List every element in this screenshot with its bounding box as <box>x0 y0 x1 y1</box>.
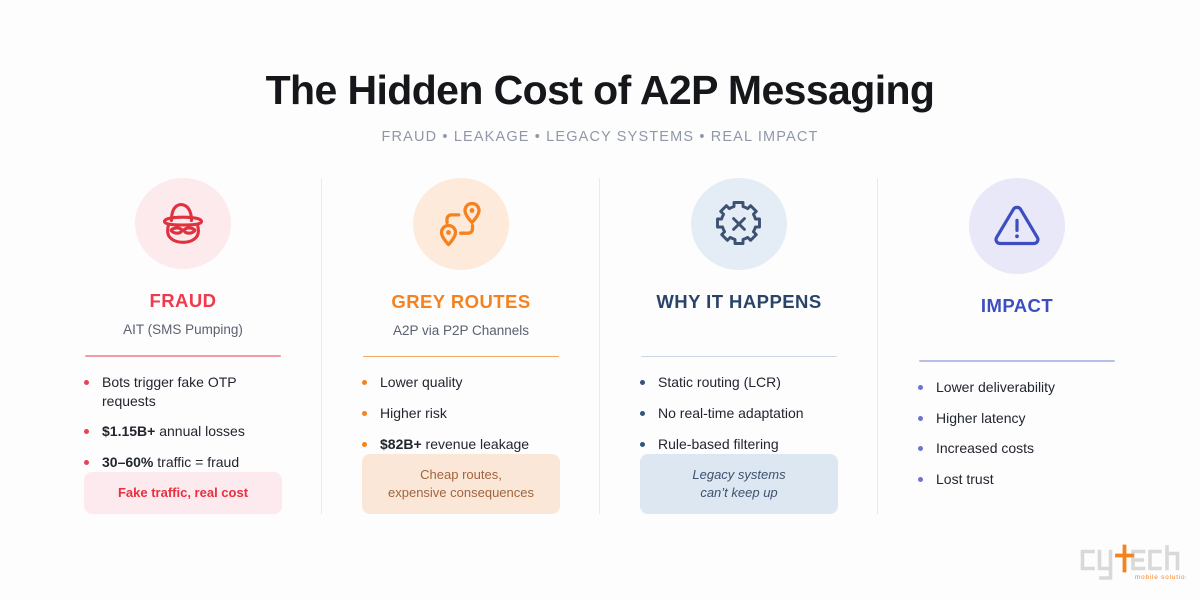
list-item-emphasis: $1.15B+ <box>102 423 155 439</box>
page-subtitle: FRAUD • LEAKAGE • LEGACY SYSTEMS • REAL … <box>0 129 1200 145</box>
list-item-text: Rule-based filtering <box>658 436 779 452</box>
warning-triangle-icon <box>969 178 1065 274</box>
bullet-dot <box>640 380 645 385</box>
column-grey-routes: GREY ROUTES A2P via P2P Channels Lower q… <box>322 178 600 514</box>
column-subheading: AIT (SMS Pumping) <box>123 322 243 339</box>
column-heading: GREY ROUTES <box>391 292 530 312</box>
bullet-dot <box>362 442 367 447</box>
bullet-list: Lower deliverability Higher latency Incr… <box>917 378 1117 489</box>
bullet-dot <box>84 380 89 385</box>
list-item-text: Lower quality <box>380 374 463 390</box>
bullet-list: Bots trigger fake OTP requests $1.15B+ a… <box>83 373 283 472</box>
column-fraud: FRAUD AIT (SMS Pumping) Bots trigger fak… <box>44 178 322 514</box>
list-item: Bots trigger fake OTP requests <box>83 373 283 411</box>
list-item: $82B+ revenue leakage <box>361 435 561 454</box>
list-item-text: Higher latency <box>936 410 1026 426</box>
list-item-text: Static routing (LCR) <box>658 374 781 390</box>
list-item-text: Increased costs <box>936 440 1034 456</box>
list-item: No real-time adaptation <box>639 404 839 423</box>
list-item-text: revenue leakage <box>422 436 529 452</box>
list-item-emphasis: $82B+ <box>380 436 422 452</box>
bullet-dot <box>640 442 645 447</box>
list-item-text: Lost trust <box>936 471 994 487</box>
list-item: Lower quality <box>361 373 561 392</box>
column-heading: FRAUD <box>150 291 217 311</box>
list-item: Rule-based filtering <box>639 435 839 454</box>
bullet-dot <box>362 380 367 385</box>
column-subheading: A2P via P2P Channels <box>393 323 529 340</box>
page-title: The Hidden Cost of A2P Messaging <box>0 68 1200 114</box>
header: The Hidden Cost of A2P Messaging FRAUD •… <box>0 68 1200 145</box>
bullet-dot <box>84 460 89 465</box>
callout-box: Fake traffic, real cost <box>84 472 282 514</box>
column-heading: IMPACT <box>981 296 1053 316</box>
list-item-emphasis: 30–60% <box>102 454 153 470</box>
bullet-dot <box>918 446 923 451</box>
column-divider-rule <box>363 356 559 358</box>
list-item: Higher latency <box>917 409 1117 428</box>
callout-box: Cheap routes, expensive consequences <box>362 454 560 514</box>
infographic-canvas: The Hidden Cost of A2P Messaging FRAUD •… <box>0 0 1200 600</box>
gear-x-icon <box>691 178 787 270</box>
list-item: Increased costs <box>917 439 1117 458</box>
list-item: Lost trust <box>917 470 1117 489</box>
columns-container: FRAUD AIT (SMS Pumping) Bots trigger fak… <box>44 178 1156 514</box>
logo-tagline: mobile solutions <box>1135 574 1186 581</box>
list-item: $1.15B+ annual losses <box>83 422 283 441</box>
spy-hat-sunglasses-icon <box>135 178 231 269</box>
column-divider-rule <box>641 356 837 358</box>
list-item: Higher risk <box>361 404 561 423</box>
list-item-text: annual losses <box>155 423 245 439</box>
callout-box: Legacy systems can’t keep up <box>640 454 838 514</box>
column-divider-rule <box>85 355 281 357</box>
list-item-text: Lower deliverability <box>936 379 1055 395</box>
brand-logo: mobile solutions <box>1074 540 1186 586</box>
column-heading: WHY IT HAPPENS <box>656 292 821 312</box>
list-item: Lower deliverability <box>917 378 1117 397</box>
column-why-it-happens: WHY IT HAPPENS Static routing (LCR) No r… <box>600 178 878 514</box>
bullet-dot <box>918 416 923 421</box>
bullet-dot <box>84 429 89 434</box>
list-item-text: Bots trigger fake OTP requests <box>102 374 236 409</box>
bullet-dot <box>640 411 645 416</box>
bullet-list: Lower quality Higher risk $82B+ revenue … <box>361 373 561 453</box>
bullet-dot <box>362 411 367 416</box>
list-item-text: traffic = fraud <box>153 454 239 470</box>
column-divider-rule <box>919 360 1115 362</box>
bullet-dot <box>918 477 923 482</box>
column-impact: IMPACT Lower deliverability Higher laten… <box>878 178 1156 514</box>
bullet-list: Static routing (LCR) No real-time adapta… <box>639 373 839 453</box>
bullet-dot <box>918 385 923 390</box>
list-item: Static routing (LCR) <box>639 373 839 392</box>
callout-box <box>918 490 1116 514</box>
list-item: 30–60% traffic = fraud <box>83 453 283 472</box>
list-item-text: Higher risk <box>380 405 447 421</box>
route-map-pins-icon <box>413 178 509 270</box>
list-item-text: No real-time adaptation <box>658 405 804 421</box>
